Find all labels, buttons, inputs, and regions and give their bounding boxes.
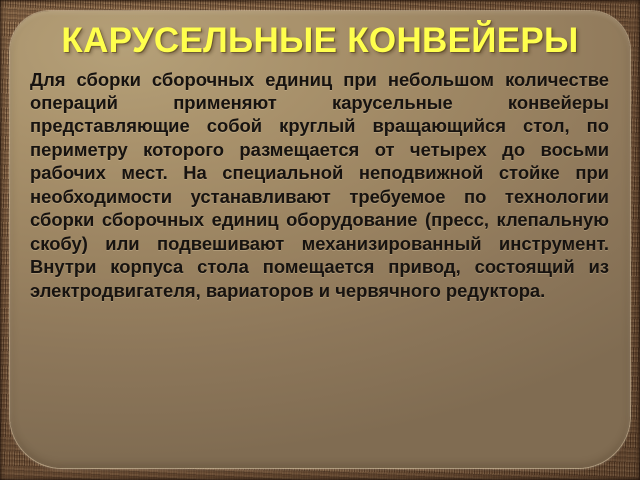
slide-body-text: Для сборки сборочных единиц при небольшо… [24, 68, 616, 303]
slide-content-panel: КАРУСЕЛЬНЫЕ КОНВЕЙЕРЫ Для сборки сборочн… [10, 11, 630, 468]
page-title: КАРУСЕЛЬНЫЕ КОНВЕЙЕРЫ [24, 15, 616, 61]
presentation-slide: КАРУСЕЛЬНЫЕ КОНВЕЙЕРЫ Для сборки сборочн… [0, 0, 640, 480]
